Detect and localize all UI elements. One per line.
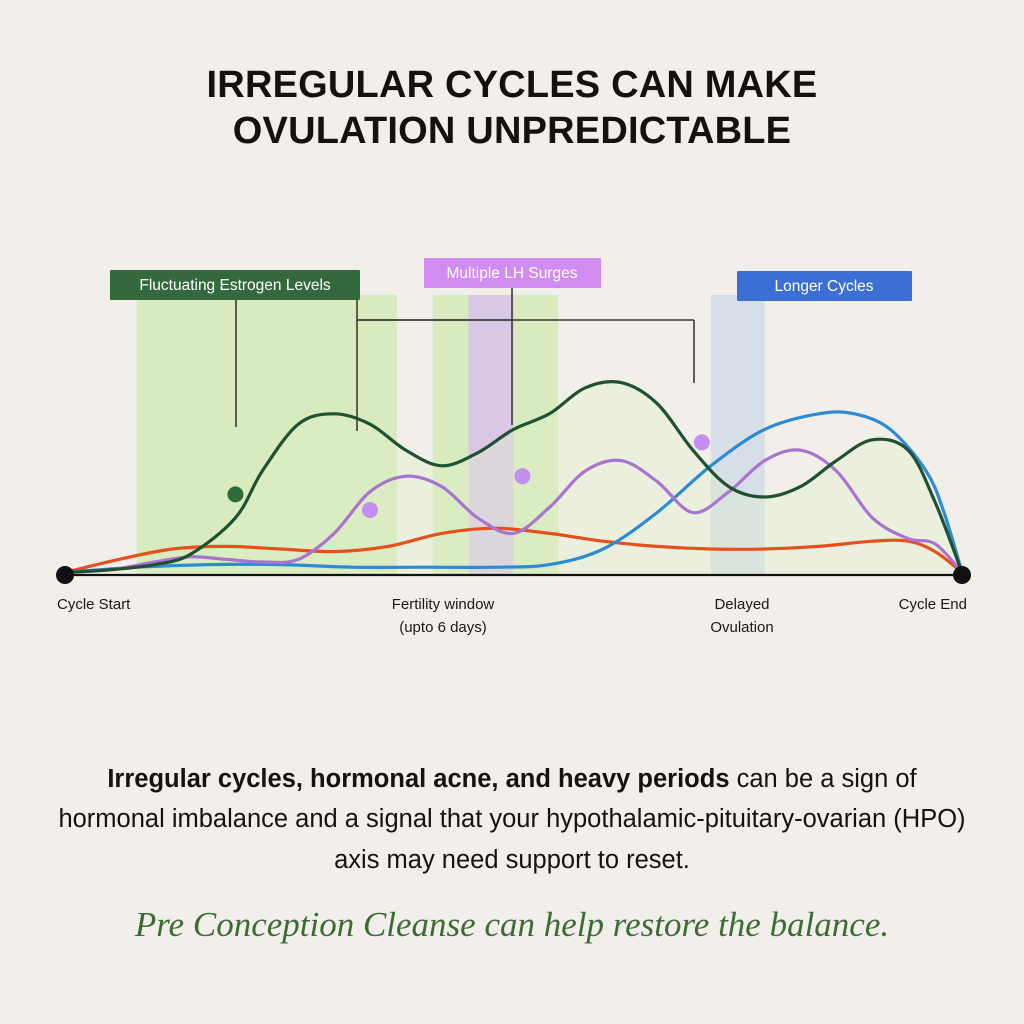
badge-longer-cycles[interactable]: Longer Cycles bbox=[737, 271, 912, 301]
lh-surge-point-2 bbox=[514, 468, 530, 484]
axis-label-fertility-window-line-1: Fertility window bbox=[392, 596, 495, 613]
estrogen-annotation-point bbox=[227, 486, 243, 502]
axis-label-fertility-window-line-2: (upto 6 days) bbox=[399, 619, 487, 636]
body-paragraph: Irregular cycles, hormonal acne, and hea… bbox=[52, 759, 972, 881]
cycle-start-endpoint-dot bbox=[56, 566, 74, 584]
badge-lh[interactable]: Multiple LH Surges bbox=[424, 258, 601, 288]
badge-estrogen[interactable]: Fluctuating Estrogen Levels bbox=[110, 270, 360, 300]
page-title-line-2: OVULATION UNPREDICTABLE bbox=[0, 108, 1024, 154]
lh-surge-point-3 bbox=[694, 434, 710, 450]
hormone-cycle-chart: Fluctuating Estrogen Levels Multiple LH … bbox=[0, 235, 1024, 655]
badge-lh-label: Multiple LH Surges bbox=[447, 265, 578, 282]
badge-longer-cycles-label: Longer Cycles bbox=[774, 278, 873, 295]
body-paragraph-bold-lead: Irregular cycles, hormonal acne, and hea… bbox=[107, 765, 729, 793]
axis-label-delayed-ovulation-line-1: Delayed bbox=[714, 596, 769, 613]
page-title: IRREGULAR CYCLES CAN MAKE OVULATION UNPR… bbox=[0, 62, 1024, 155]
product-tagline: Pre Conception Cleanse can help restore … bbox=[0, 905, 1024, 945]
infographic-page: IRREGULAR CYCLES CAN MAKE OVULATION UNPR… bbox=[0, 0, 1024, 1024]
badge-estrogen-label: Fluctuating Estrogen Levels bbox=[139, 277, 331, 294]
axis-label-cycle-end: Cycle End bbox=[899, 596, 967, 613]
page-title-line-1: IRREGULAR CYCLES CAN MAKE bbox=[0, 62, 1024, 108]
axis-label-cycle-start: Cycle Start bbox=[57, 596, 131, 613]
axis-label-delayed-ovulation-line-2: Ovulation bbox=[710, 619, 773, 636]
chart-svg: Fluctuating Estrogen Levels Multiple LH … bbox=[0, 235, 1024, 655]
cycle-end-endpoint-dot bbox=[953, 566, 971, 584]
lh-surge-point-1 bbox=[362, 502, 378, 518]
